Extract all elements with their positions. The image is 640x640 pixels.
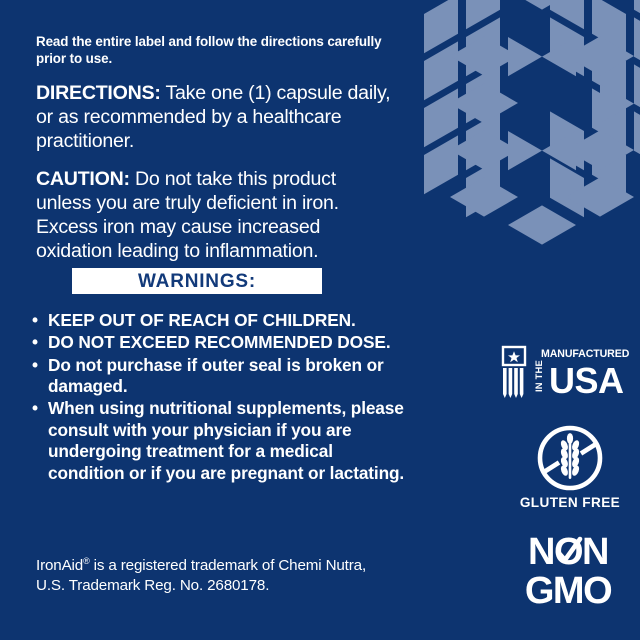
supplement-label-panel: Read the entire label and follow the dir…: [0, 0, 640, 640]
trademark-notice: IronAid® is a registered trademark of Ch…: [36, 556, 396, 597]
caution-heading: CAUTION:: [36, 168, 130, 190]
caution-paragraph: CAUTION: Do not take this product unless…: [36, 167, 396, 263]
badge-usa-vertical: IN THE: [533, 360, 544, 392]
hexagon-lattice-pattern-icon: [404, 0, 640, 286]
warnings-title-box: WARNINGS:: [72, 268, 322, 294]
lede-text: Read the entire label and follow the dir…: [36, 33, 396, 68]
non-gmo-checkmark-icon: NON GMO: [498, 531, 638, 609]
badge-non-gmo-line2: GMO: [525, 570, 611, 609]
gluten-free-wheat-icon: [500, 425, 640, 495]
bullet-glyph-icon: •: [32, 398, 38, 419]
bullet-glyph-icon: •: [32, 310, 38, 331]
list-item: •Do not purchase if outer seal is broken…: [30, 355, 410, 398]
badge-gluten-free: GLUTEN FREE: [500, 425, 640, 517]
usa-flag-banner-icon: MANUFACTURED IN THE USA: [500, 345, 630, 407]
directions-paragraph: DIRECTIONS: Take one (1) capsule daily, …: [36, 81, 396, 153]
list-item: •KEEP OUT OF REACH OF CHILDREN.: [30, 310, 410, 331]
badge-usa-line1: MANUFACTURED: [541, 348, 630, 360]
badge-usa-line2: USA: [549, 360, 624, 401]
label-copy-column: Read the entire label and follow the dir…: [36, 33, 396, 278]
warning-text: KEEP OUT OF REACH OF CHILDREN.: [48, 310, 356, 330]
warnings-list: •KEEP OUT OF REACH OF CHILDREN. •DO NOT …: [30, 310, 410, 485]
directions-heading: DIRECTIONS:: [36, 82, 161, 104]
brand-name: IronAid: [36, 557, 83, 574]
bullet-glyph-icon: •: [32, 355, 38, 376]
warning-text: DO NOT EXCEED RECOMMENDED DOSE.: [48, 332, 391, 352]
list-item: •DO NOT EXCEED RECOMMENDED DOSE.: [30, 332, 410, 353]
badge-manufactured-in-usa: MANUFACTURED IN THE USA: [500, 345, 630, 407]
list-item: •When using nutritional supplements, ple…: [30, 398, 410, 483]
badge-gluten-free-caption: GLUTEN FREE: [500, 495, 640, 510]
warning-text: Do not purchase if outer seal is broken …: [48, 355, 384, 396]
warnings-title: WARNINGS:: [138, 272, 256, 291]
bullet-glyph-icon: •: [32, 332, 38, 353]
badge-non-gmo: NON GMO: [498, 531, 638, 609]
warning-text: When using nutritional supplements, plea…: [48, 398, 404, 482]
